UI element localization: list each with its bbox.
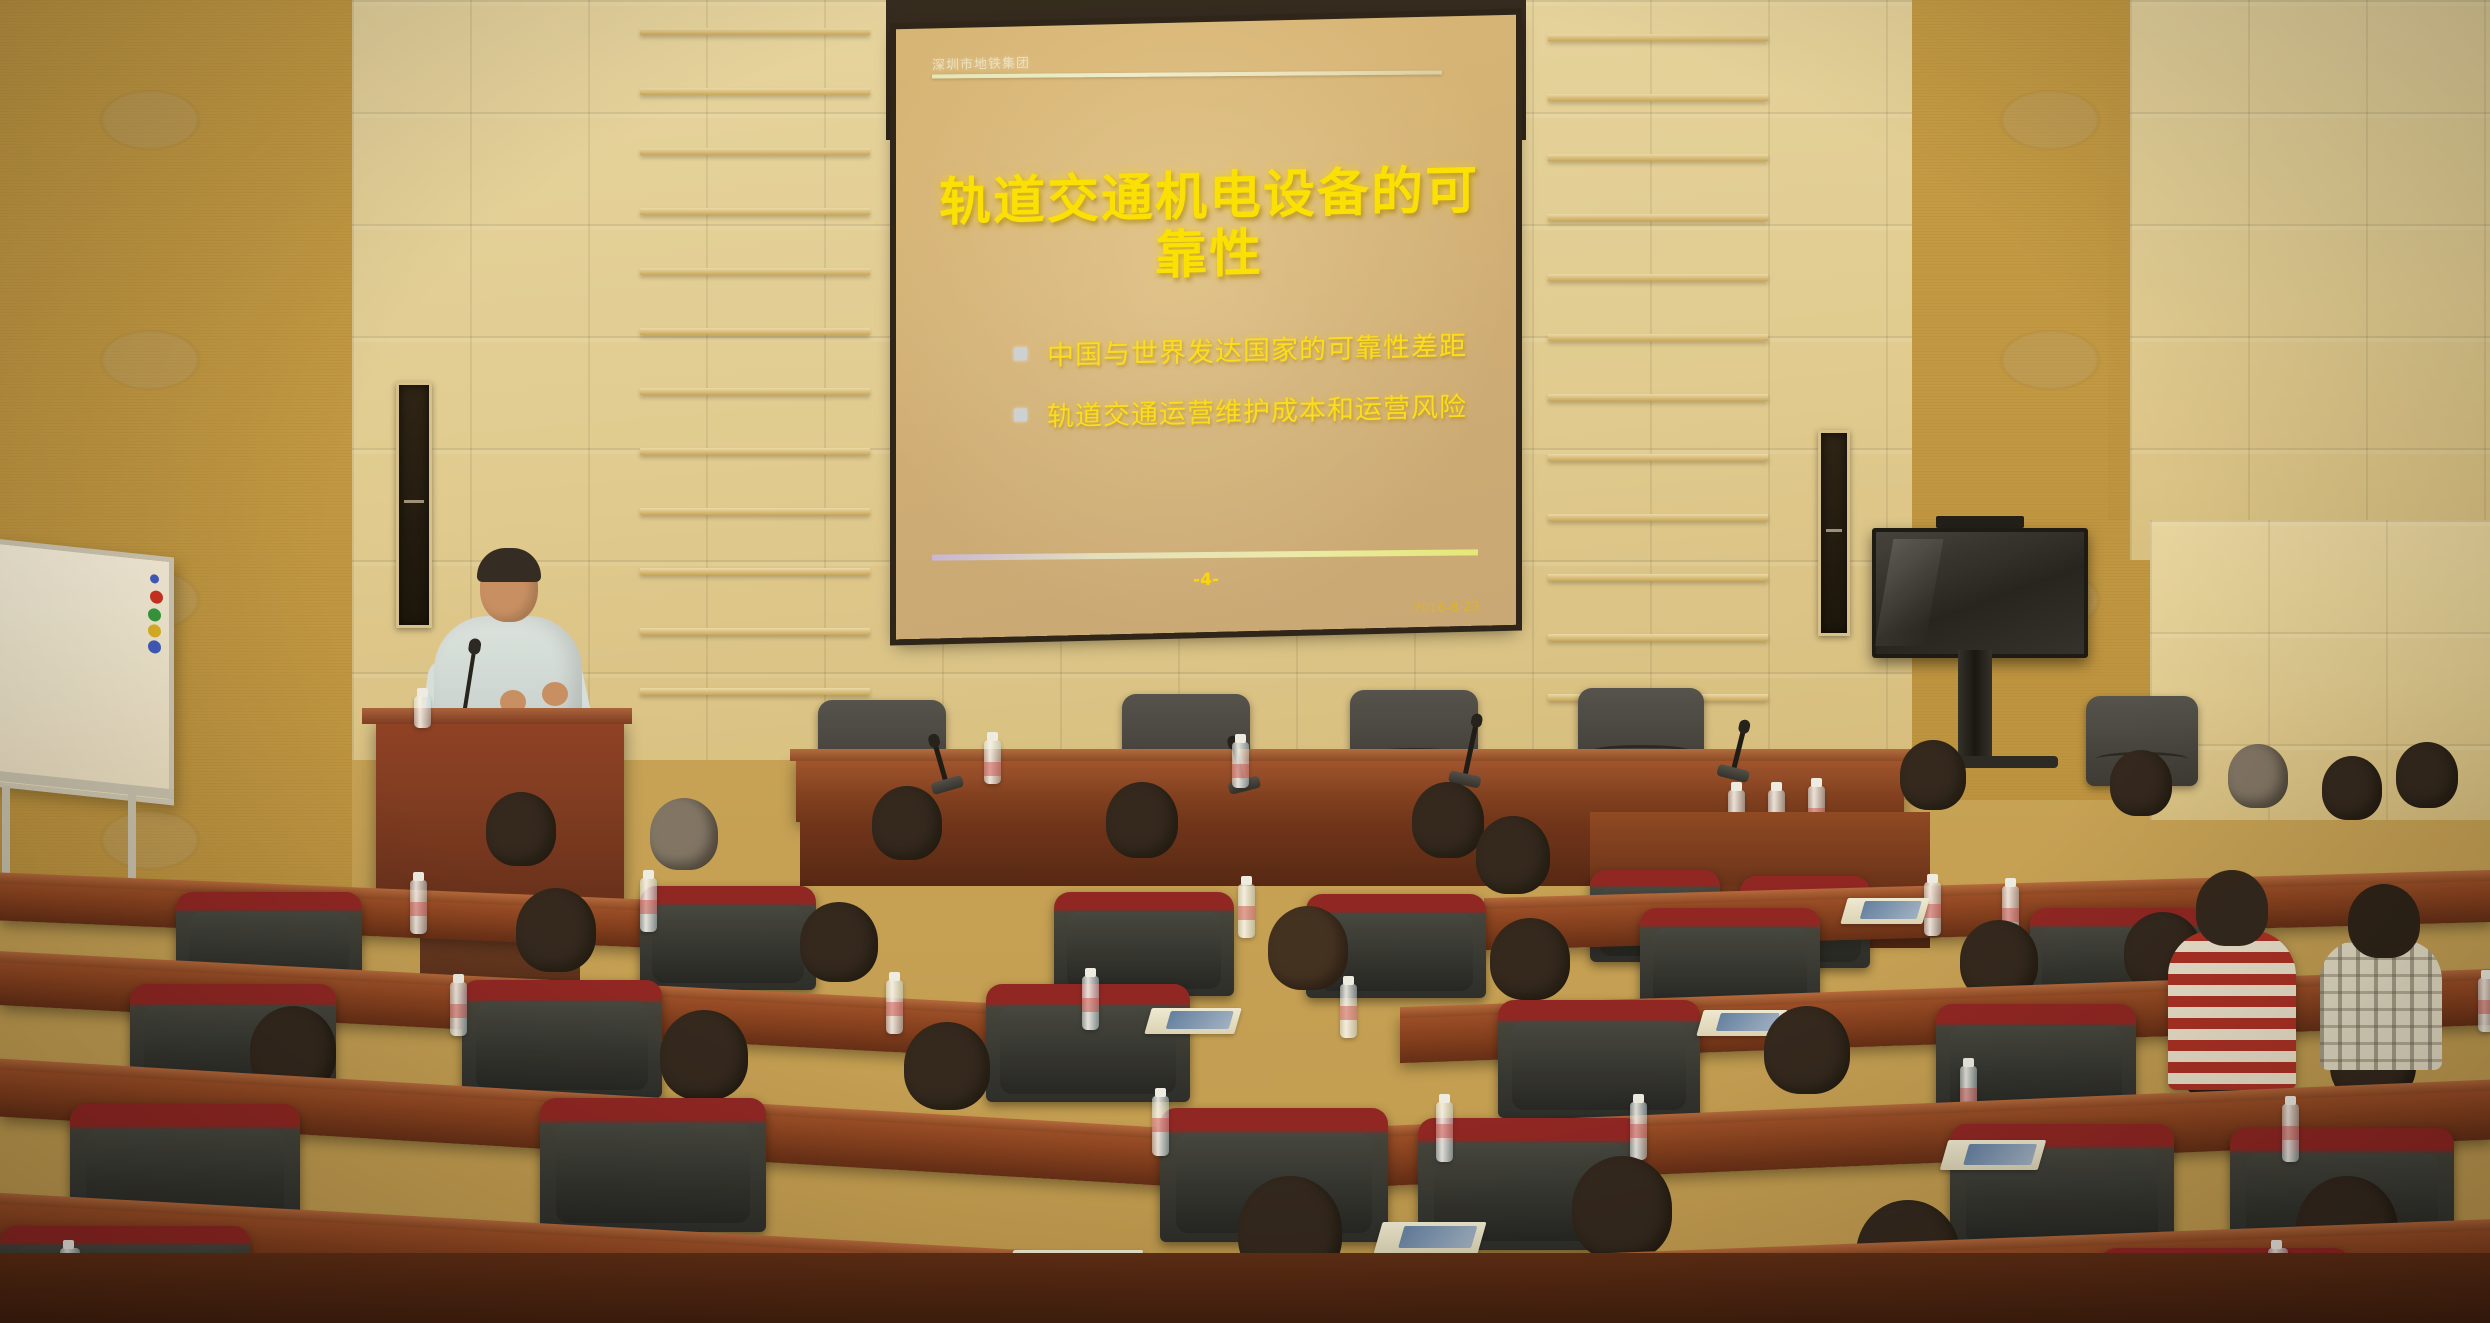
list-item: 轨道交通运营维护成本和运营风险 xyxy=(1014,385,1486,435)
right-ceiling-panels xyxy=(2130,0,2490,560)
water-bottle[interactable] xyxy=(414,696,431,728)
slide-surface: 深圳市地铁集团 轨道交通机电设备的可靠性 中国与世界发达国家的可靠性差距 轨道交… xyxy=(896,15,1516,640)
audience-head xyxy=(650,798,718,870)
projection-screen[interactable]: 深圳市地铁集团 轨道交通机电设备的可靠性 中国与世界发达国家的可靠性差距 轨道交… xyxy=(886,0,1526,648)
audience-head xyxy=(2228,744,2288,808)
booklet[interactable] xyxy=(1940,1140,2047,1170)
audience-chair[interactable] xyxy=(640,886,816,990)
wall-monitor[interactable] xyxy=(1872,528,2088,658)
tv-stand-pole xyxy=(1958,650,1992,766)
audience-head xyxy=(516,888,596,972)
audience-head xyxy=(1268,906,1348,990)
audience-chair[interactable] xyxy=(462,980,662,1098)
audience-person-plaid-shirt xyxy=(2320,940,2442,1070)
slide-bullet-list: 中国与世界发达国家的可靠性差距 轨道交通运营维护成本和运营风险 xyxy=(1014,324,1486,435)
audience-head xyxy=(1490,918,1570,1000)
presenter-right-hand xyxy=(542,682,568,706)
water-bottle[interactable] xyxy=(450,982,467,1036)
audience-head xyxy=(2396,742,2458,808)
audience-head xyxy=(2196,870,2268,946)
water-bottle[interactable] xyxy=(1238,884,1255,938)
audience-head xyxy=(872,786,942,860)
water-bottle[interactable] xyxy=(1152,1096,1169,1156)
right-rib-panel xyxy=(1548,8,1768,708)
water-bottle[interactable] xyxy=(886,980,903,1034)
water-bottle[interactable] xyxy=(1082,976,1099,1030)
lecture-hall-photo: 深圳市地铁集团 轨道交通机电设备的可靠性 中国与世界发达国家的可靠性差距 轨道交… xyxy=(0,0,2490,1323)
water-bottle[interactable] xyxy=(1232,742,1249,788)
audience-head xyxy=(2348,884,2420,958)
magnet-icon xyxy=(148,624,161,638)
bullet-square-icon xyxy=(1014,409,1027,422)
water-bottle[interactable] xyxy=(410,880,427,934)
magnet-icon xyxy=(150,574,159,584)
audience-head xyxy=(1476,816,1550,894)
audience-head xyxy=(2322,756,2382,820)
audience-chair[interactable] xyxy=(1054,892,1234,996)
wall-speaker-right xyxy=(1818,430,1850,636)
slide-bullet-1: 中国与世界发达国家的可靠性差距 xyxy=(1047,324,1467,373)
water-bottle[interactable] xyxy=(2478,978,2490,1032)
audience-head xyxy=(1900,740,1966,810)
water-bottle[interactable] xyxy=(640,878,657,932)
audience-head xyxy=(1412,782,1484,858)
slide-date: 2016-8-23 xyxy=(1413,600,1480,616)
water-bottle[interactable] xyxy=(1340,984,1357,1038)
slide-brand-text: 深圳市地铁集团 xyxy=(932,41,1486,73)
water-bottle[interactable] xyxy=(1630,1102,1647,1160)
slide-bottom-rule xyxy=(932,549,1478,560)
water-bottle[interactable] xyxy=(2282,1104,2299,1162)
water-bottle[interactable] xyxy=(1436,1102,1453,1162)
audience-head xyxy=(904,1022,990,1110)
whiteboard[interactable] xyxy=(0,539,174,806)
slide-bullet-2: 轨道交通运营维护成本和运营风险 xyxy=(1047,385,1467,434)
booklet[interactable] xyxy=(1144,1008,1241,1034)
booklet[interactable] xyxy=(1373,1222,1486,1254)
list-item: 中国与世界发达国家的可靠性差距 xyxy=(1014,324,1486,374)
water-bottle[interactable] xyxy=(984,740,1001,784)
magnet-icon xyxy=(150,590,163,604)
slide-title: 轨道交通机电设备的可靠性 xyxy=(932,161,1486,291)
booklet[interactable] xyxy=(1840,898,1929,924)
wall-speaker-left xyxy=(396,382,432,628)
audience-head xyxy=(660,1010,748,1100)
audience-head xyxy=(1106,782,1178,858)
audience-head xyxy=(2110,750,2172,816)
magnet-icon xyxy=(148,640,161,654)
audience-person-striped-shirt xyxy=(2168,930,2296,1090)
audience-head xyxy=(800,902,878,982)
left-rib-panel xyxy=(640,8,870,708)
floor xyxy=(0,1253,2490,1323)
audience-head xyxy=(1764,1006,1850,1094)
audience-chair[interactable] xyxy=(540,1098,766,1232)
bullet-square-icon xyxy=(1014,348,1027,361)
audience-chair[interactable] xyxy=(1498,1000,1700,1118)
tv-mount-bar xyxy=(1936,516,2024,528)
magnet-icon xyxy=(148,608,161,622)
audience-head xyxy=(1572,1156,1672,1260)
slide-page-number: -4- xyxy=(896,563,1516,598)
audience-head xyxy=(486,792,556,866)
